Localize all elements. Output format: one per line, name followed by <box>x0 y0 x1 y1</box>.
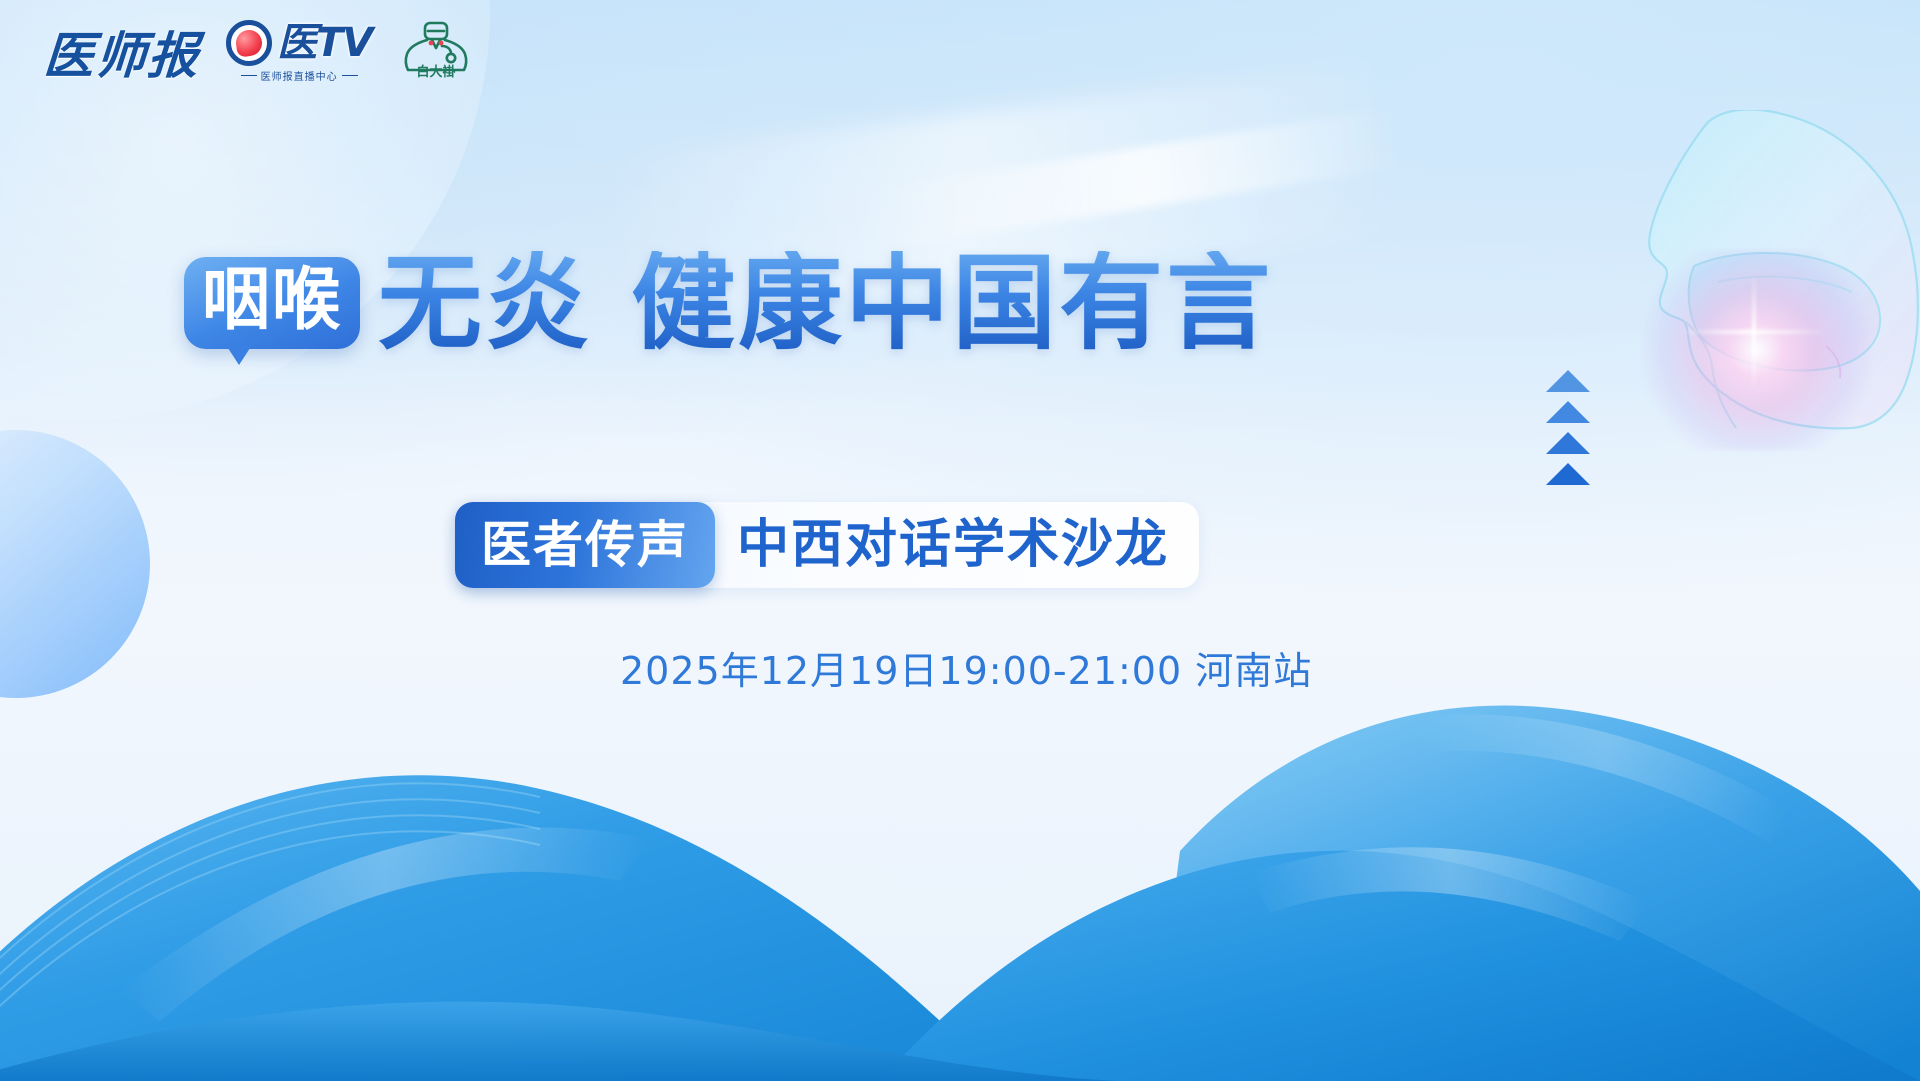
doctor-figure-icon: 白大褂 <box>398 20 474 80</box>
svg-text:白大褂: 白大褂 <box>417 64 456 80</box>
chevron-icon <box>1546 463 1590 485</box>
event-dateline: 2025年12月19日19:00-21:00 河南站 <box>620 652 1312 690</box>
headline-main-text: 无炎 健康中国有言 <box>378 251 1273 355</box>
wave-graphic <box>0 521 1920 1081</box>
sky-streak-highlight <box>879 108 1402 249</box>
subtitle-main-text: 中西对话学术沙龙 <box>737 519 1169 571</box>
subtitle-badge-text: 医者传声 <box>481 520 689 570</box>
glow-flare-vertical <box>1752 272 1756 392</box>
rule-left <box>241 75 257 76</box>
headline-tag-badge: 咽喉 <box>184 257 360 349</box>
rule-right <box>342 75 358 76</box>
headline: 咽喉 无炎 健康中国有言 <box>184 238 1273 368</box>
medical-journal-logo-text: 医师报 <box>42 31 201 81</box>
etv-live-logo: 医TV 医师报直播中心 <box>226 20 372 92</box>
subtitle-main: 中西对话学术沙龙 <box>715 502 1199 588</box>
chevron-icon <box>1546 432 1590 454</box>
play-circle-icon <box>226 20 272 66</box>
etv-logo-text: 医TV <box>277 23 372 63</box>
chevron-icon <box>1546 370 1590 392</box>
white-coat-logo: 白大褂 <box>398 20 474 92</box>
chevron-arrows <box>1546 370 1590 494</box>
etv-logo-subtitle-row: 医师报直播中心 <box>241 68 358 83</box>
etv-logo-subtitle: 医师报直播中心 <box>261 68 338 83</box>
subtitle-bar: 医者传声 中西对话学术沙龙 <box>455 502 1199 588</box>
headline-tag-text: 咽喉 <box>202 267 342 335</box>
logo-bar: 医师报 医TV 医师报直播中心 <box>44 20 474 92</box>
medical-journal-logo: 医师报 <box>44 20 200 92</box>
subtitle-badge: 医者传声 <box>455 502 715 588</box>
promotional-banner: 医师报 医TV 医师报直播中心 <box>0 0 1920 1081</box>
etv-mark-row: 医TV <box>226 20 372 66</box>
chevron-icon <box>1546 401 1590 423</box>
